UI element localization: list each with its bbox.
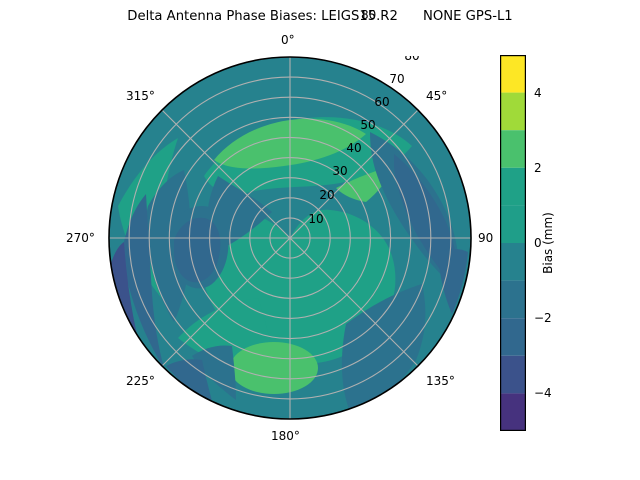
colorbar-swatch-2 bbox=[500, 318, 526, 356]
colorbar-swatch-4 bbox=[500, 243, 526, 281]
polar-angular-gridlines bbox=[109, 57, 471, 419]
colorbar-axis-label: Bias (mm) bbox=[541, 212, 555, 274]
polar-contour-svg: 10 20 30 40 50 60 70 80 bbox=[108, 56, 472, 420]
polar-plot-axes[interactable]: 10 20 30 40 50 60 70 80 80 90 0° 45° 90 … bbox=[108, 56, 472, 420]
radial-tick-80: 80 bbox=[404, 56, 419, 63]
colorbar-tick-label-2: 2 bbox=[534, 161, 542, 175]
colorbar[interactable]: 4 2 0 −2 −4 bbox=[500, 55, 526, 431]
radial-tick-label-80: 80 bbox=[361, 8, 376, 22]
colorbar-svg bbox=[500, 55, 526, 431]
colorbar-swatch-3 bbox=[500, 281, 526, 319]
angular-tick-label-45: 45° bbox=[426, 89, 447, 103]
radial-tick-30: 30 bbox=[332, 164, 347, 178]
radial-tick-60: 60 bbox=[374, 95, 389, 109]
radial-tick-20: 20 bbox=[319, 188, 334, 202]
radial-tick-40: 40 bbox=[346, 141, 361, 155]
colorbar-swatch-0 bbox=[500, 393, 526, 431]
colorbar-swatch-8 bbox=[500, 93, 526, 131]
angular-tick-label-90: 90 bbox=[478, 231, 493, 245]
radial-tick-70: 70 bbox=[389, 72, 404, 86]
angular-tick-label-225: 225° bbox=[126, 374, 155, 388]
colorbar-swatch-7 bbox=[500, 130, 526, 168]
page-title: Delta Antenna Phase Biases: LEIGS15.R2 N… bbox=[0, 9, 640, 24]
angular-tick-label-0: 0° bbox=[281, 33, 295, 47]
colorbar-swatch-9 bbox=[500, 55, 526, 93]
radial-tick-10: 10 bbox=[308, 212, 323, 226]
colorbar-tick-label-4: 4 bbox=[534, 86, 542, 100]
colorbar-tick-label-neg4: −4 bbox=[534, 386, 552, 400]
angular-tick-label-180: 180° bbox=[271, 429, 300, 443]
colorbar-swatches bbox=[500, 55, 526, 431]
colorbar-tick-label-neg2: −2 bbox=[534, 311, 552, 325]
angular-tick-label-270: 270° bbox=[66, 231, 95, 245]
colorbar-swatch-6 bbox=[500, 168, 526, 206]
colorbar-swatch-1 bbox=[500, 356, 526, 394]
radial-tick-50: 50 bbox=[360, 118, 375, 132]
angular-tick-label-135: 135° bbox=[426, 374, 455, 388]
figure-canvas: Delta Antenna Phase Biases: LEIGS15.R2 N… bbox=[0, 0, 640, 480]
colorbar-swatch-5 bbox=[500, 205, 526, 243]
angular-tick-label-315: 315° bbox=[126, 89, 155, 103]
